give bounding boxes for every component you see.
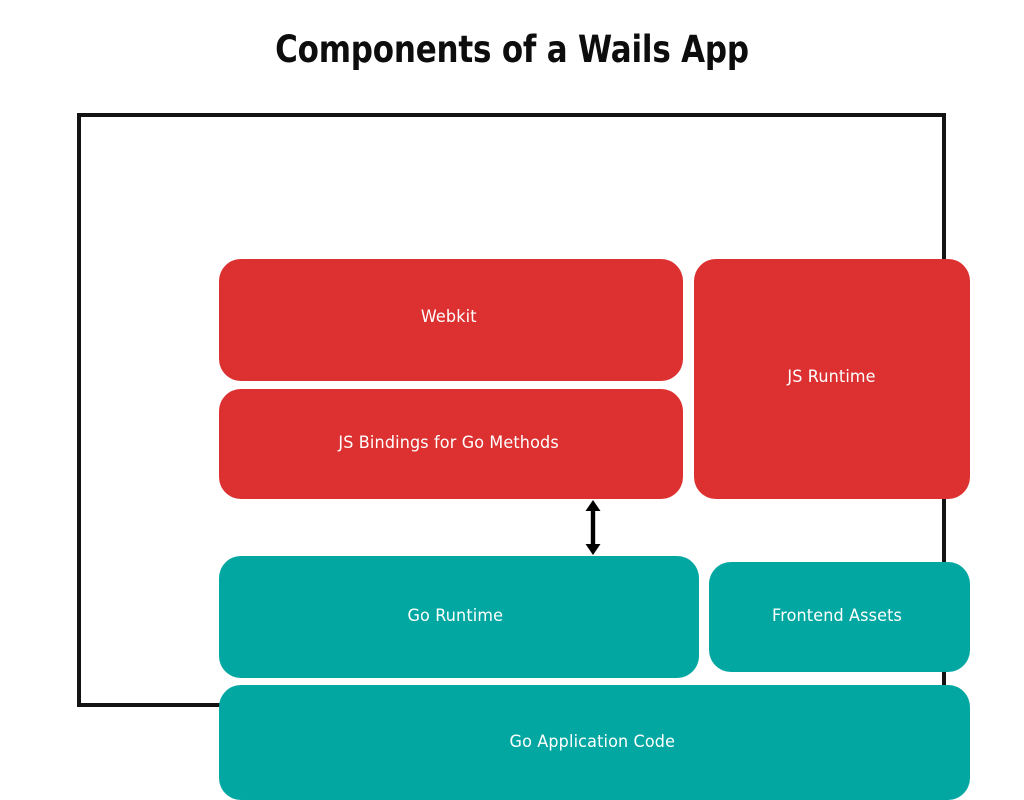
- node-go-application-code[interactable]: Go Application Code: [219, 685, 970, 800]
- node-js-bindings-label: JS Bindings for Go Methods: [339, 433, 559, 455]
- node-go-runtime-label: Go Runtime: [407, 606, 503, 628]
- node-go-application-code-label: Go Application Code: [510, 732, 676, 754]
- node-go-runtime[interactable]: Go Runtime: [219, 556, 699, 678]
- node-js-runtime[interactable]: JS Runtime: [694, 259, 970, 499]
- node-js-bindings[interactable]: JS Bindings for Go Methods: [219, 389, 683, 499]
- diagram-frame: Webkit JS Bindings for Go Methods JS Run…: [77, 113, 946, 707]
- node-webkit-label: Webkit: [421, 307, 477, 329]
- node-frontend-assets[interactable]: Frontend Assets: [709, 562, 970, 672]
- node-frontend-assets-label: Frontend Assets: [772, 606, 902, 628]
- double-headed-arrow-icon: [579, 499, 607, 556]
- page-title: Components of a Wails App: [36, 28, 988, 71]
- node-webkit[interactable]: Webkit: [219, 259, 683, 381]
- node-js-runtime-label: JS Runtime: [788, 367, 876, 389]
